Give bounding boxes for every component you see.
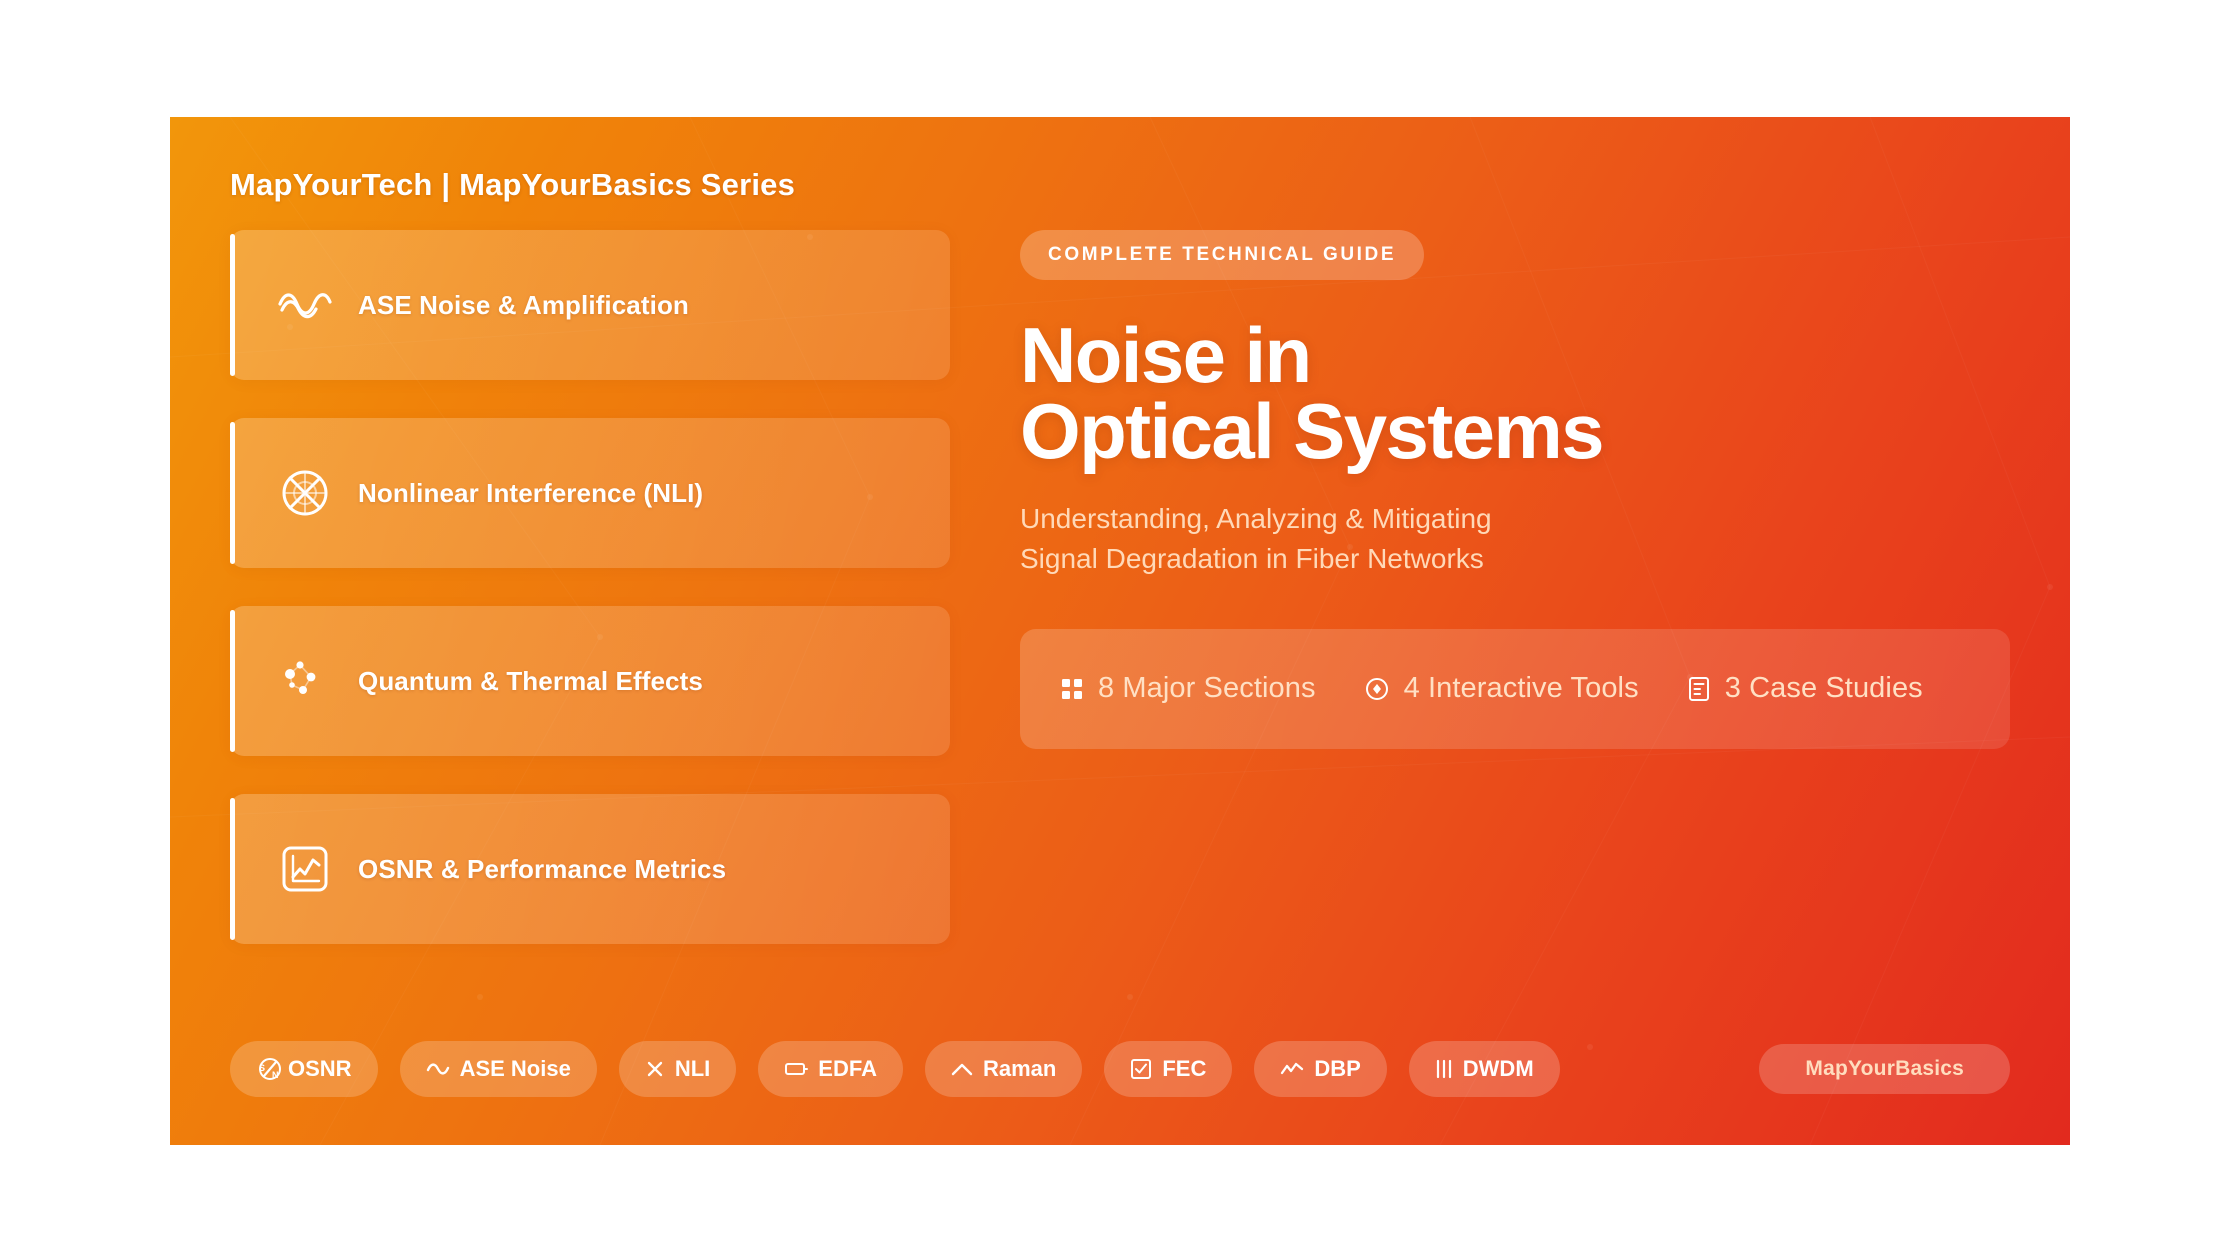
tag-pill-nli[interactable]: NLI	[619, 1041, 736, 1097]
subtitle-line-1: Understanding, Analyzing & Mitigating	[1020, 503, 1492, 534]
subtitle-line-2: Signal Degradation in Fiber Networks	[1020, 539, 2010, 579]
stats-bar: 8 Major Sections 4 Interactive Tools	[1020, 629, 2010, 749]
section-card-label: OSNR & Performance Metrics	[358, 854, 726, 885]
title-line-2: Optical Systems	[1020, 394, 2010, 470]
chart-frame-icon	[274, 838, 336, 900]
tag-pill-label: ASE Noise	[460, 1056, 571, 1082]
chevron-up-icon	[951, 1062, 973, 1076]
section-card-label: ASE Noise & Amplification	[358, 290, 689, 321]
tag-pill-label: OSNR	[288, 1056, 352, 1082]
section-card-quantum[interactable]: Quantum & Thermal Effects	[230, 606, 950, 756]
close-x-icon	[645, 1059, 665, 1079]
tag-pill-osnr[interactable]: S N OSNR	[230, 1041, 378, 1097]
stat-interactive-tools: 4 Interactive Tools	[1364, 672, 1639, 705]
section-card-list: ASE Noise & Amplification Nonlinear Inte…	[230, 230, 950, 982]
target-icon	[1364, 676, 1390, 702]
title-line-1: Noise in	[1020, 311, 1311, 399]
stat-label: 8 Major Sections	[1098, 672, 1316, 705]
tag-pill-label: NLI	[675, 1056, 710, 1082]
tag-pill-fec[interactable]: FEC	[1104, 1041, 1232, 1097]
brand-title: MapYourTech | MapYourBasics Series	[230, 167, 795, 203]
page-title: Noise in Optical Systems	[1020, 318, 2010, 469]
amplifier-icon	[784, 1061, 808, 1077]
tag-pill-dbp[interactable]: DBP	[1254, 1041, 1386, 1097]
bars-icon	[1435, 1059, 1453, 1079]
signal-ratio-icon: S N	[256, 1057, 284, 1081]
document-icon	[1687, 676, 1711, 702]
section-card-osnr[interactable]: OSNR & Performance Metrics	[230, 794, 950, 944]
page-subtitle: Understanding, Analyzing & Mitigating Si…	[1020, 499, 2010, 579]
section-card-ase[interactable]: ASE Noise & Amplification	[230, 230, 950, 380]
stat-label: 4 Interactive Tools	[1404, 672, 1639, 705]
stat-case-studies: 3 Case Studies	[1687, 672, 1923, 705]
tag-pill-label: EDFA	[818, 1056, 877, 1082]
section-card-nli[interactable]: Nonlinear Interference (NLI)	[230, 418, 950, 568]
tag-pill-label: DBP	[1314, 1056, 1360, 1082]
grid-icon	[1060, 677, 1084, 701]
checkbox-icon	[1130, 1058, 1152, 1080]
hero-canvas: MapYourTech | MapYourBasics Series ASE N…	[170, 117, 2070, 1145]
tag-pill-dwdm[interactable]: DWDM	[1409, 1041, 1560, 1097]
wave-small-icon	[426, 1062, 450, 1076]
tag-rail: S N OSNR ASE Noise	[230, 1041, 2010, 1097]
screenshot-root: MapYourTech | MapYourBasics Series ASE N…	[0, 0, 2240, 1260]
hero-panel: COMPLETE TECHNICAL GUIDE Noise in Optica…	[1020, 230, 2010, 749]
tag-pill-raman[interactable]: Raman	[925, 1041, 1082, 1097]
tag-pill-label: Raman	[983, 1056, 1056, 1082]
section-card-label: Quantum & Thermal Effects	[358, 666, 703, 697]
stat-label: 3 Case Studies	[1725, 672, 1923, 705]
tag-pill-label: FEC	[1162, 1056, 1206, 1082]
section-card-label: Nonlinear Interference (NLI)	[358, 478, 703, 509]
tag-pill-edfa[interactable]: EDFA	[758, 1041, 903, 1097]
stat-major-sections: 8 Major Sections	[1060, 672, 1316, 705]
tag-pill-ase-noise[interactable]: ASE Noise	[400, 1041, 597, 1097]
crosshair-circle-icon	[274, 462, 336, 524]
particles-icon	[274, 650, 336, 712]
zigzag-line-icon	[1280, 1061, 1304, 1077]
svg-text:S: S	[259, 1063, 265, 1073]
tag-pill-label: DWDM	[1463, 1056, 1534, 1082]
wave-icon	[274, 274, 336, 336]
footer-badge: MapYourBasics	[1759, 1044, 2010, 1094]
guide-badge: COMPLETE TECHNICAL GUIDE	[1020, 230, 1424, 280]
svg-text:N: N	[272, 1070, 279, 1080]
